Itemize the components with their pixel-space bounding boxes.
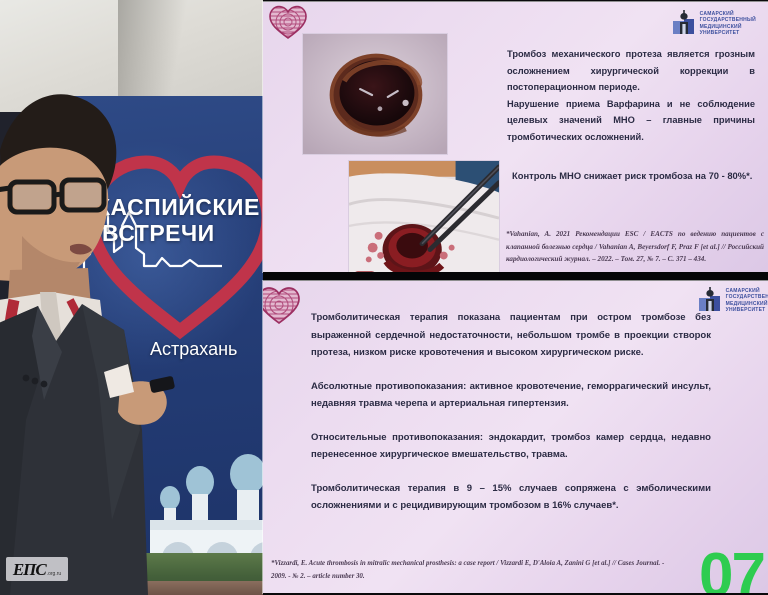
slide1-highlight-text: Контроль МНО снижает риск тромбоза на 70… (512, 169, 760, 183)
watermark-logo: ЕПС .org.ru (6, 557, 68, 581)
university-logo: САМАРСКИЙ ГОСУДАРСТВЕННЫЙ МЕДИЦИНСКИЙ УН… (673, 10, 756, 37)
slide2-reference-line-1: *Vizzardi, E. Acute thrombosis in mitral… (271, 558, 763, 571)
slide2-reference: *Vizzardi, E. Acute thrombosis in mitral… (271, 558, 763, 583)
uni-line-4: УНИВЕРСИТЕТ (700, 30, 756, 36)
slide1-reference-text: *Vahanian, A. 2021 Рекомендации ESC / EA… (506, 228, 764, 266)
conference-photo: КАСПИЙСКИЕ ВСТРЕЧИ Астрахань (0, 0, 264, 595)
valve-specimen-photo (302, 33, 448, 155)
slide-separator (263, 272, 768, 281)
slide2-paragraph-1: Тромболитическая терапия показана пациен… (311, 309, 711, 362)
presentation-slide-1: САМАРСКИЙ ГОСУДАРСТВЕННЫЙ МЕДИЦИНСКИЙ УН… (263, 2, 768, 272)
watermark-domain: .org.ru (47, 571, 61, 577)
page-number: 07 (699, 545, 764, 593)
slide1-body-text: Тромбоз механического протеза является г… (507, 46, 755, 146)
slide1-reference: *Vahanian, A. 2021 Рекомендации ESC / EA… (506, 228, 764, 266)
slide2-reference-line-2: 2009. - № 2. – article number 30. (271, 571, 763, 584)
screenshot-stage: КАСПИЙСКИЕ ВСТРЕЧИ Астрахань (0, 0, 768, 595)
university-name: САМАРСКИЙ ГОСУДАРСТВЕННЫЙ МЕДИЦИНСКИЙ УН… (726, 288, 768, 314)
slide2-body-text: Тромболитическая терапия показана пациен… (311, 309, 711, 515)
slide2-paragraph-4: Тромболитическая терапия в 9 – 15% случа… (311, 480, 711, 515)
presentation-slide-2: САМАРСКИЙ ГОСУДАРСТВЕННЫЙ МЕДИЦИНСКИЙ УН… (263, 281, 768, 593)
uni-line-4: УНИВЕРСИТЕТ (726, 307, 768, 313)
slide1-paragraph-1: Тромбоз механического протеза является г… (507, 46, 755, 96)
uni-line-2: ГОСУДАРСТВЕННЫЙ (700, 17, 756, 23)
slide2-paragraph-2: Абсолютные противопоказания: активное кр… (311, 378, 711, 413)
university-name: САМАРСКИЙ ГОСУДАРСТВЕННЫЙ МЕДИЦИНСКИЙ УН… (700, 11, 756, 37)
intraoperative-photo (348, 160, 500, 272)
slide1-paragraph-2: Нарушение приема Варфарина и не соблюден… (507, 96, 755, 146)
heart-icon (263, 285, 301, 325)
speaker-figure (0, 0, 182, 595)
university-emblem-icon (673, 10, 695, 37)
uni-line-2: ГОСУДАРСТВЕННЫЙ (726, 294, 768, 300)
uni-line-3: МЕДИЦИНСКИЙ (726, 301, 768, 307)
watermark-text: ЕПС (13, 561, 46, 578)
slide2-paragraph-3: Относительные противопоказания: эндокард… (311, 429, 711, 464)
